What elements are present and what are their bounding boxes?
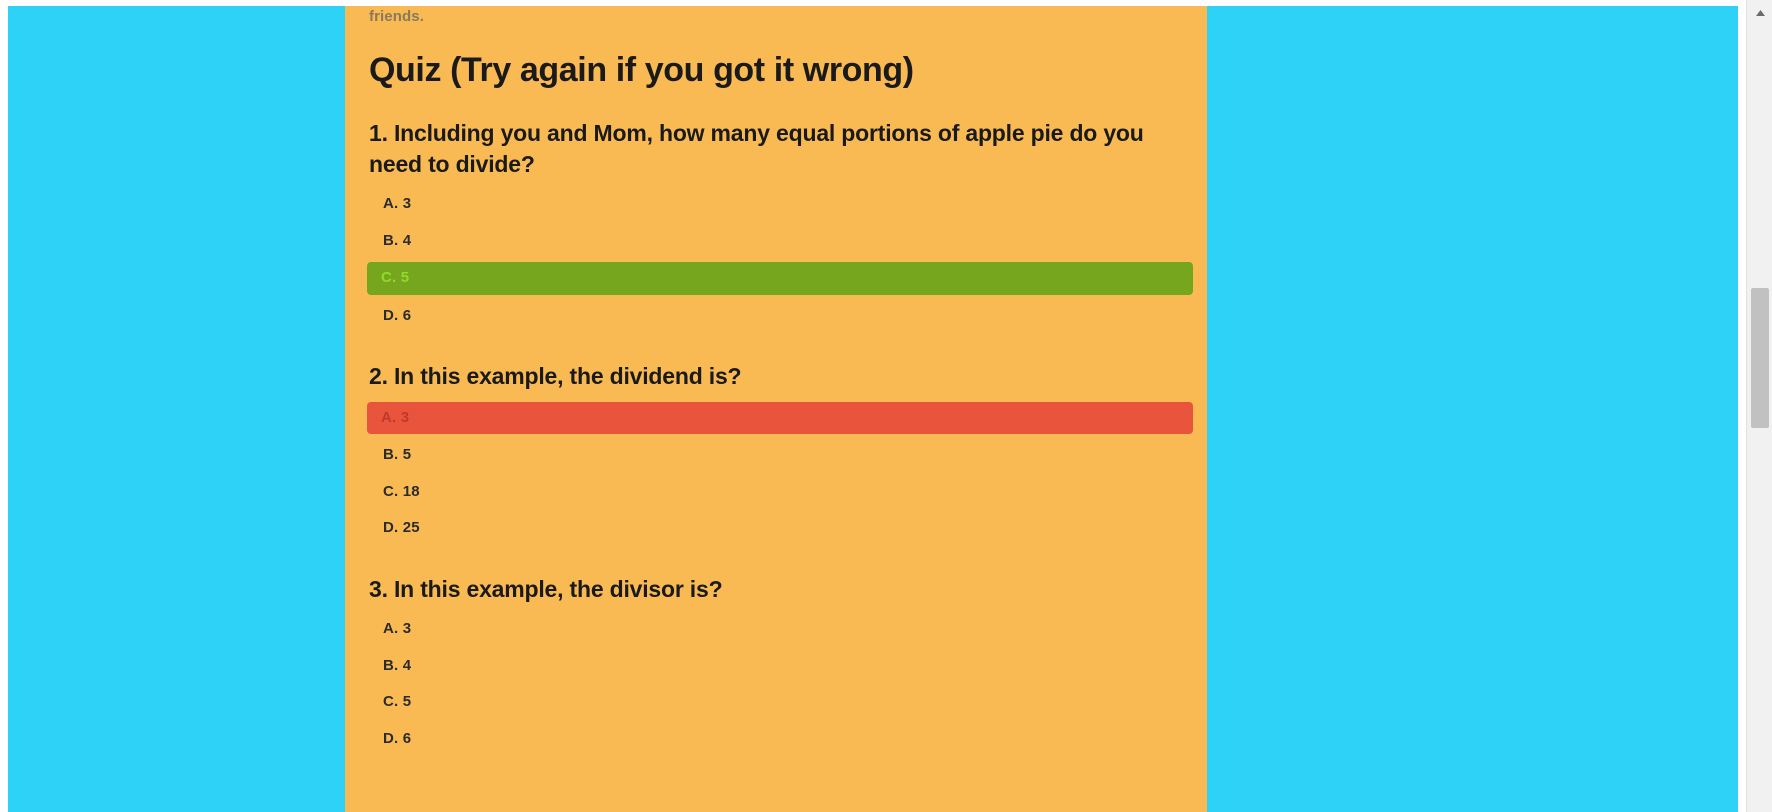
question-1-text: 1. Including you and Mom, how many equal… xyxy=(367,118,1185,179)
option-2-a-selected-wrong[interactable]: A. 3 xyxy=(367,402,1193,435)
option-3-a[interactable]: A. 3 xyxy=(367,614,1185,645)
option-2-d[interactable]: D. 25 xyxy=(367,513,1185,544)
scrollbar-thumb[interactable] xyxy=(1751,288,1769,428)
question-2-text: 2. In this example, the dividend is? xyxy=(367,361,1185,392)
quiz-title: Quiz (Try again if you got it wrong) xyxy=(367,51,1185,90)
option-1-b[interactable]: B. 4 xyxy=(367,226,1185,257)
question-1-options: A. 3 B. 4 C. 5 D. 6 xyxy=(367,189,1185,331)
option-1-d[interactable]: D. 6 xyxy=(367,301,1185,332)
preceding-paragraph-text: friends. xyxy=(367,6,1185,25)
option-3-c[interactable]: C. 5 xyxy=(367,687,1185,718)
question-2-options: A. 3 B. 5 C. 18 D. 25 xyxy=(367,402,1185,544)
option-2-b[interactable]: B. 5 xyxy=(367,440,1185,471)
option-3-b[interactable]: B. 4 xyxy=(367,651,1185,682)
question-3-text: 3. In this example, the divisor is? xyxy=(367,574,1185,605)
scroll-up-arrow-icon[interactable] xyxy=(1747,4,1772,22)
vertical-scrollbar[interactable] xyxy=(1746,0,1772,812)
page-canvas: friends. Quiz (Try again if you got it w… xyxy=(8,6,1738,812)
option-2-c[interactable]: C. 18 xyxy=(367,477,1185,508)
question-3-options: A. 3 B. 4 C. 5 D. 6 xyxy=(367,614,1185,754)
browser-viewport: friends. Quiz (Try again if you got it w… xyxy=(0,0,1772,812)
option-3-d[interactable]: D. 6 xyxy=(367,724,1185,755)
quiz-content-card: friends. Quiz (Try again if you got it w… xyxy=(345,6,1207,812)
option-1-a[interactable]: A. 3 xyxy=(367,189,1185,220)
option-1-c-selected-correct[interactable]: C. 5 xyxy=(367,262,1193,295)
